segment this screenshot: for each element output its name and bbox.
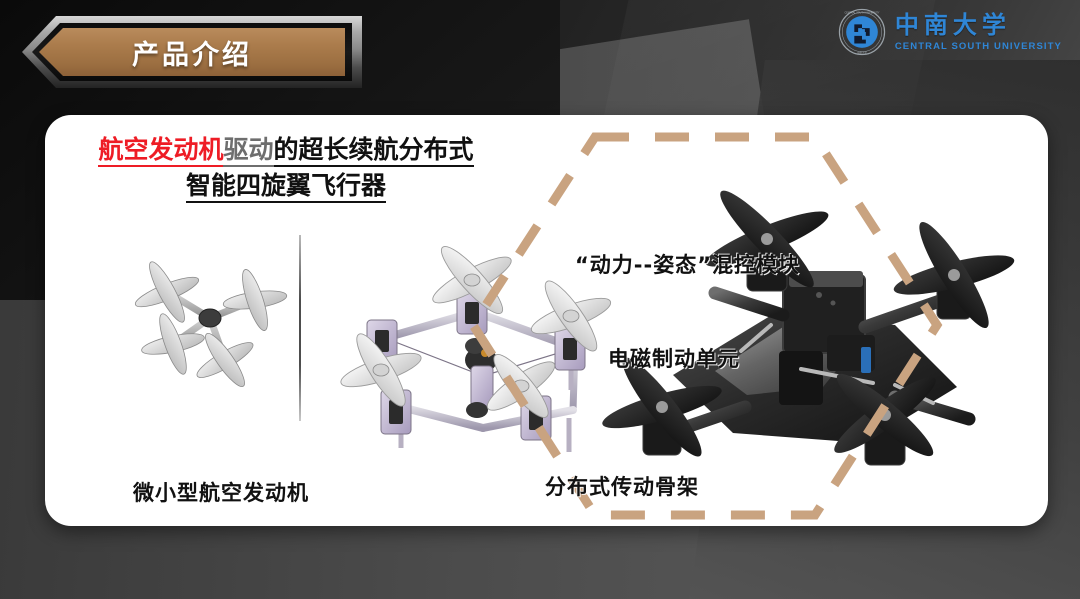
content-card-clip: 航空发动机驱动的超长续航分布式 智能四旋翼飞行器 — [45, 115, 1048, 526]
slide-root: 产品介绍 CENTRAL SOUTH UNIVERSITY 中南大学 中南大学 … — [0, 0, 1080, 599]
university-logo: CENTRAL SOUTH UNIVERSITY 中南大学 中南大学 CENTR… — [838, 8, 1062, 56]
headline-rest-1: 的超长续航分布式 — [274, 135, 474, 167]
label-micro-aero-engine: 微小型航空发动机 — [133, 477, 309, 507]
section-title-banner: 产品介绍 — [22, 16, 362, 88]
content-card: 航空发动机驱动的超长续航分布式 智能四旋翼飞行器 — [45, 115, 1048, 526]
logo-name-cn: 中南大学 — [895, 13, 1011, 37]
dashed-hexagon-outline — [445, 115, 965, 526]
banner-fill: 产品介绍 — [39, 28, 345, 76]
label-electromagnetic-brake-unit: 电磁制动单元 — [608, 343, 740, 373]
university-seal-icon: CENTRAL SOUTH UNIVERSITY 中南大学 — [838, 8, 886, 56]
headline-line-2-text: 智能四旋翼飞行器 — [186, 171, 386, 203]
headline-line-2: 智能四旋翼飞行器 — [61, 168, 511, 204]
label-power-attitude-module: “动力--姿态”混控模块 — [575, 249, 800, 279]
label-distributed-transmission-frame: 分布式传动骨架 — [545, 471, 699, 501]
svg-text:CENTRAL SOUTH UNIVERSITY: CENTRAL SOUTH UNIVERSITY — [844, 11, 879, 14]
quadcopter-cad-small — [115, 240, 305, 400]
card-headline: 航空发动机驱动的超长续航分布式 智能四旋翼飞行器 — [61, 132, 511, 203]
logo-name-en: CENTRAL SOUTH UNIVERSITY — [895, 42, 1062, 52]
headline-highlight-red: 航空发动机 — [98, 135, 223, 167]
headline-line-1: 航空发动机驱动的超长续航分布式 — [61, 132, 511, 168]
headline-highlight-gray: 驱动 — [223, 135, 273, 167]
page-title: 产品介绍 — [132, 33, 252, 72]
svg-text:中南大学: 中南大学 — [857, 51, 867, 55]
logo-text-block: 中南大学 CENTRAL SOUTH UNIVERSITY — [895, 13, 1062, 52]
